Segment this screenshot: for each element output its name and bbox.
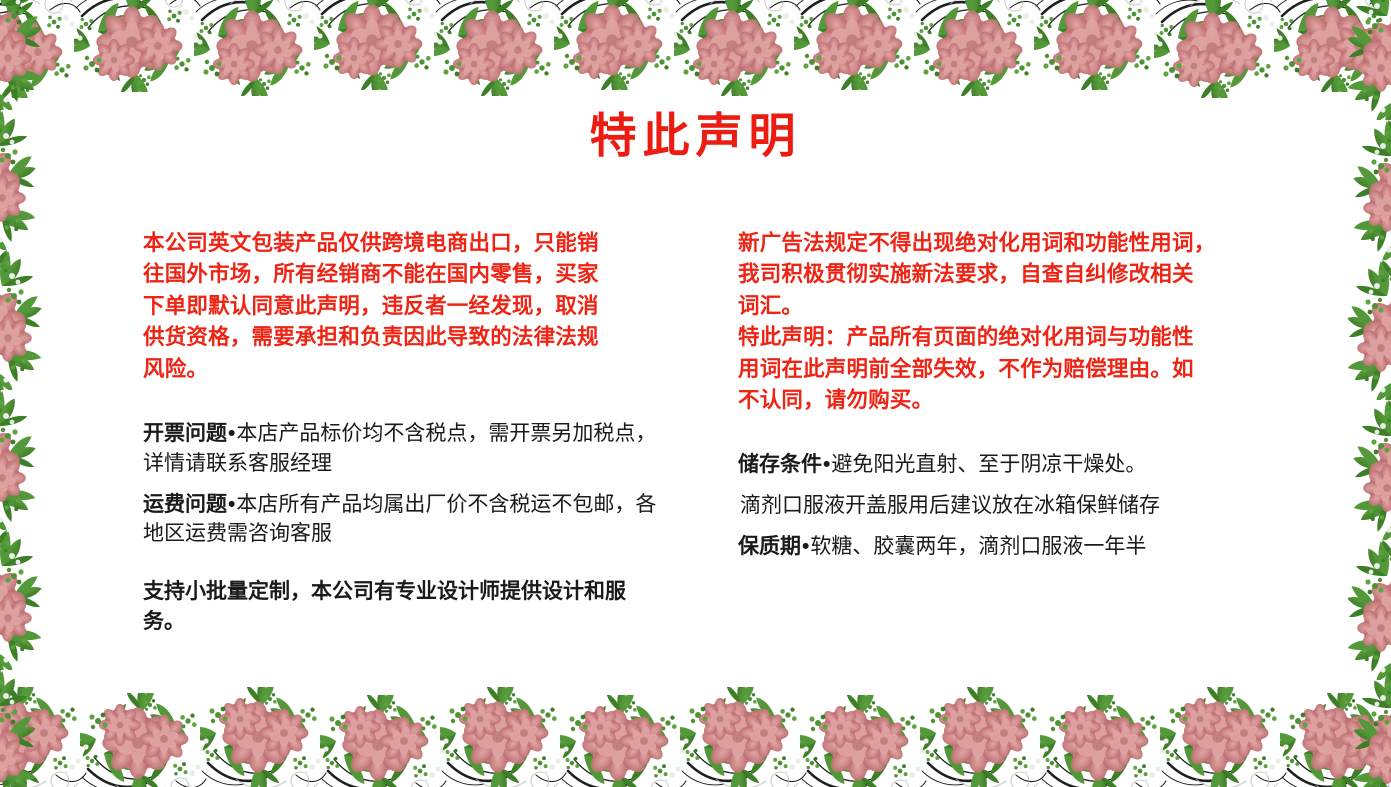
list-item: 开票问题•本店产品标价均不含税点，需开票另加税点，详情请联系客服经理 [143,419,663,479]
right-red-notice-1: 新广告法规定不得出现绝对化用词和功能性用词， 我司积极贯彻实施新法要求，自查自纠… [738,228,1258,322]
spacer [143,385,663,419]
bullet-separator-icon: • [801,535,810,558]
right-red-notice-2: 特此声明：产品所有页面的绝对化用词与功能性 用词在此声明前全部失效，不作为赔偿理… [738,322,1258,416]
left-red-notice-line: 风险。 [143,354,663,385]
left-footer-note: 支持小批量定制，本公司有专业设计师提供设计和服务。 [143,577,663,637]
left-red-notice-line: 供货资格，需要承担和负责因此导致的法律法规 [143,322,663,353]
list-item-text: 避免阳光直射、至于阴凉干燥处。 [831,453,1146,476]
list-item-text: 滴剂口服液开盖服用后建议放在冰箱保鲜储存 [740,494,1160,517]
left-column: 本公司英文包装产品仅供跨境电商出口，只能销 往国外市场，所有经销商不能在国内零售… [143,228,663,637]
declaration-page: 特此声明 本公司英文包装产品仅供跨境电商出口，只能销 往国外市场，所有经销商不能… [0,0,1391,787]
list-item-label: 运费问题 [143,493,227,516]
content-area: 特此声明 本公司英文包装产品仅供跨境电商出口，只能销 往国外市场，所有经销商不能… [0,0,1391,787]
bullet-separator-icon: • [227,422,236,445]
left-info-list: 开票问题•本店产品标价均不含税点，需开票另加税点，详情请联系客服经理 运费问题•… [143,419,663,549]
bullet-separator-icon: • [822,453,831,476]
list-item-label: 储存条件 [738,453,822,476]
spacer [143,549,663,577]
left-red-notice-line: 往国外市场，所有经销商不能在国内零售，买家 [143,259,663,290]
bullet-separator-icon: • [227,493,236,516]
right-red-notice-line: 不认同，请勿购买。 [738,385,1258,416]
list-item: 储存条件•避免阳光直射、至于阴凉干燥处。 [738,450,1258,480]
page-title: 特此声明 [0,108,1391,164]
list-item: 保质期•软糖、胶囊两年，滴剂口服液一年半 [738,532,1258,562]
left-red-notice-line: 下单即默认同意此声明，违反者一经发现，取消 [143,291,663,322]
left-red-notice: 本公司英文包装产品仅供跨境电商出口，只能销 往国外市场，所有经销商不能在国内零售… [143,228,663,385]
spacer [738,416,1258,450]
right-red-notice-line: 我司积极贯彻实施新法要求，自查自纠修改相关 [738,259,1258,290]
right-info-list: 储存条件•避免阳光直射、至于阴凉干燥处。 滴剂口服液开盖服用后建议放在冰箱保鲜储… [738,450,1258,561]
right-column: 新广告法规定不得出现绝对化用词和功能性用词， 我司积极贯彻实施新法要求，自查自纠… [738,228,1258,562]
right-red-notice-line: 用词在此声明前全部失效，不作为赔偿理由。如 [738,354,1258,385]
right-red-notice-line: 词汇。 [738,291,1258,322]
list-item-text: 软糖、胶囊两年，滴剂口服液一年半 [810,535,1146,558]
right-red-notice-line: 特此声明：产品所有页面的绝对化用词与功能性 [738,322,1258,353]
left-red-notice-line: 本公司英文包装产品仅供跨境电商出口，只能销 [143,228,663,259]
right-red-notice-line: 新广告法规定不得出现绝对化用词和功能性用词， [738,228,1258,259]
list-item-label: 开票问题 [143,422,227,445]
list-item: 滴剂口服液开盖服用后建议放在冰箱保鲜储存 [738,491,1258,521]
list-item-label: 保质期 [738,535,801,558]
list-item: 运费问题•本店所有产品均属出厂价不含税运不包邮，各地区运费需咨询客服 [143,490,663,550]
